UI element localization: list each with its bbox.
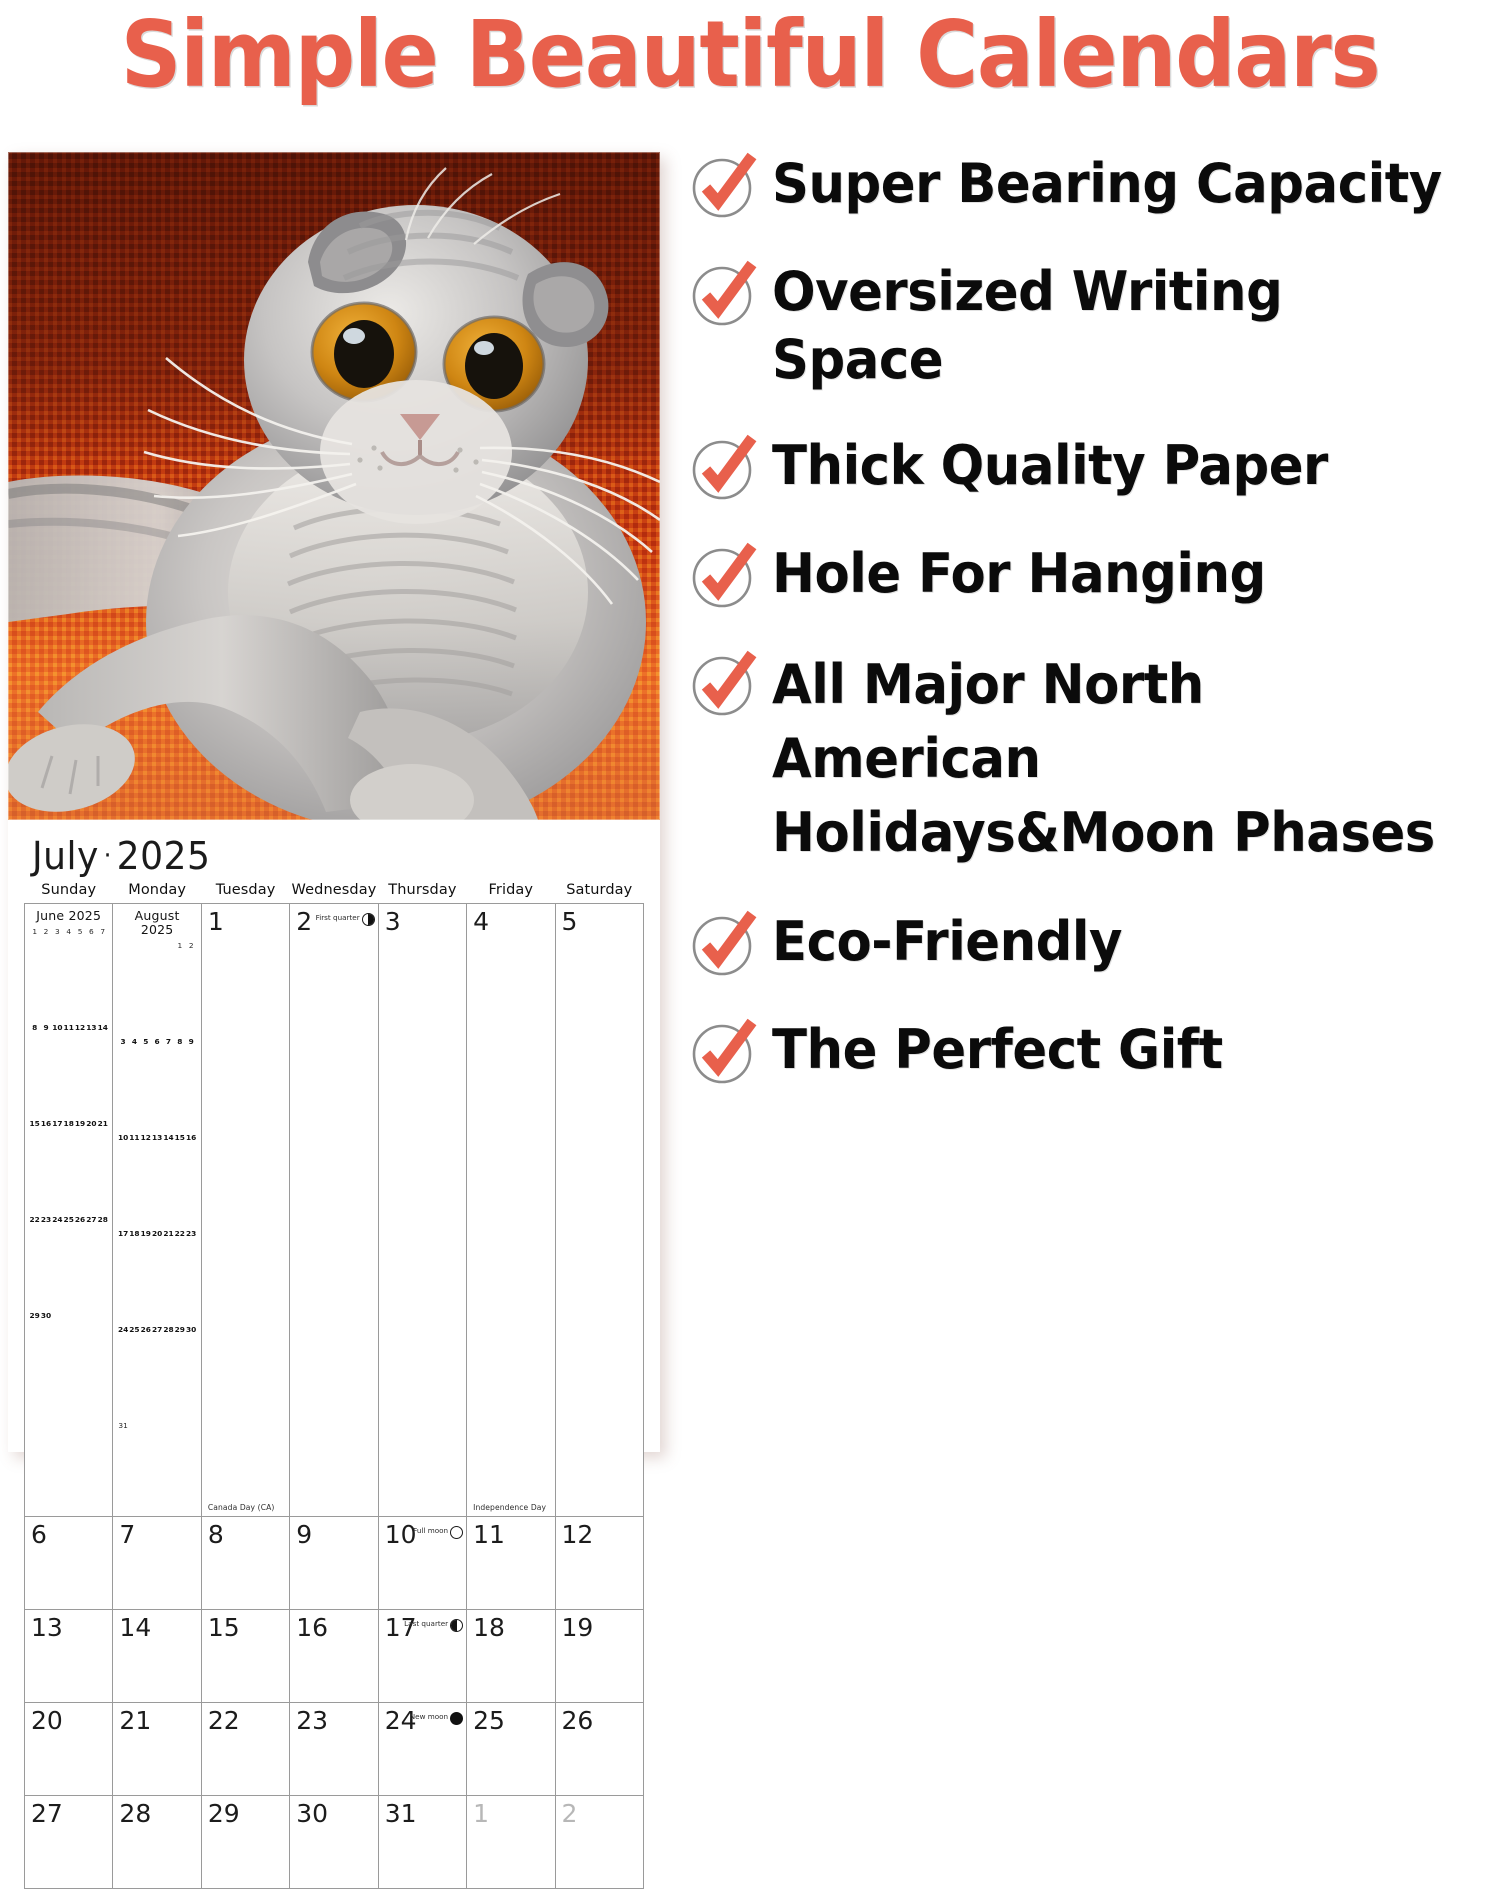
mini-calendar-empty	[97, 1310, 108, 1406]
mini-calendar-week: 31	[117, 1420, 196, 1516]
feature-item: Thick Quality Paper	[690, 432, 1490, 502]
mini-calendar-grid: 1234567891011121314151617181920212223242…	[29, 926, 108, 1406]
product-calendar-mockup: July·2025 Sunday Monday Tuesday Wednesda…	[8, 152, 660, 1452]
mini-calendar-day: 30	[40, 1310, 51, 1406]
mini-calendar-day: 6	[86, 926, 97, 1022]
holiday-label: Canada Day (CA)	[208, 1503, 286, 1512]
mini-calendar-day: 15	[174, 1132, 185, 1228]
calendar-day-cell[interactable]: 10Full moon	[378, 1517, 466, 1610]
mini-calendar-day: 11	[63, 1022, 74, 1118]
mini-calendar-day: 22	[174, 1228, 185, 1324]
calendar-day-cell[interactable]: 4Independence Day	[467, 904, 555, 1517]
calendar-day-cell[interactable]: 25	[467, 1703, 555, 1796]
calendar-week-row: June 20251234567891011121314151617181920…	[25, 904, 644, 1517]
weekday-friday: Friday	[467, 882, 555, 904]
calendar-day-cell[interactable]: 11	[467, 1517, 555, 1610]
mini-calendar-day: 23	[40, 1214, 51, 1310]
moon-phase-label: New moon	[410, 1713, 448, 1721]
mini-calendar-day: 18	[63, 1118, 74, 1214]
day-number: 31	[379, 1796, 466, 1827]
mini-calendar-day: 9	[40, 1022, 51, 1118]
weekday-sunday: Sunday	[25, 882, 113, 904]
calendar-day-cell[interactable]: June 20251234567891011121314151617181920…	[25, 904, 113, 1517]
day-number: 30	[290, 1796, 377, 1827]
day-number: 9	[290, 1517, 377, 1548]
day-number: 12	[556, 1517, 643, 1548]
day-number: 19	[556, 1610, 643, 1641]
day-number: 21	[113, 1703, 200, 1734]
mini-calendar-day: 22	[29, 1214, 40, 1310]
feature-label: Eco-Friendly	[772, 908, 1122, 976]
day-number: 22	[202, 1703, 289, 1734]
mini-calendar-empty	[86, 1310, 97, 1406]
mini-calendar-week: 1234567	[29, 926, 108, 1022]
calendar-day-cell[interactable]: 8	[201, 1517, 289, 1610]
calendar-month-title: July·2025	[32, 834, 613, 878]
mini-calendar-empty	[185, 1420, 196, 1516]
mini-calendar-day: 13	[86, 1022, 97, 1118]
mini-calendar-empty	[151, 940, 162, 1036]
check-circle-icon	[690, 434, 758, 502]
mini-calendar-day: 14	[97, 1022, 108, 1118]
calendar-day-cell[interactable]: 26	[555, 1703, 643, 1796]
calendar-day-cell[interactable]: 20	[25, 1703, 113, 1796]
day-number: 14	[113, 1610, 200, 1641]
day-number: 15	[202, 1610, 289, 1641]
feature-item: All Major North AmericanHolidays&Moon Ph…	[690, 648, 1490, 870]
mini-calendar-day: 27	[151, 1324, 162, 1420]
feature-list: Super Bearing CapacityOversized Writing …	[690, 150, 1490, 1086]
day-number: 11	[467, 1517, 554, 1548]
day-number: 27	[25, 1796, 112, 1827]
mini-calendar-week: 2930	[29, 1310, 108, 1406]
day-number: 26	[556, 1703, 643, 1734]
mini-calendar-week: 17181920212223	[117, 1228, 196, 1324]
mini-calendar-day: 12	[74, 1022, 85, 1118]
calendar-separator: ·	[99, 841, 117, 871]
day-number: 25	[467, 1703, 554, 1734]
calendar-day-cell[interactable]: 18	[467, 1610, 555, 1703]
mini-calendar-day: 29	[174, 1324, 185, 1420]
feature-label-line-1: All Major North American	[772, 648, 1454, 796]
mini-calendar-week: 24252627282930	[117, 1324, 196, 1420]
mini-calendar-day: 12	[140, 1132, 151, 1228]
moon-phase-label: First quarter	[316, 914, 360, 922]
day-number: 1	[202, 904, 289, 935]
calendar-week-row: 2021222324New moon2526	[25, 1703, 644, 1796]
mini-calendar-day: 14	[163, 1132, 174, 1228]
mini-calendar-empty	[63, 1310, 74, 1406]
mini-calendar-day: 18	[129, 1228, 140, 1324]
mini-calendar-day: 19	[74, 1118, 85, 1214]
feature-item: Oversized Writing Space	[690, 258, 1490, 394]
mini-calendar-day: 15	[29, 1118, 40, 1214]
check-circle-icon	[690, 542, 758, 610]
mini-calendar-day: 7	[163, 1036, 174, 1132]
page-title: Simple Beautiful Calendars	[60, 4, 1440, 105]
weekday-tuesday: Tuesday	[201, 882, 289, 904]
day-number: 8	[202, 1517, 289, 1548]
feature-item: Super Bearing Capacity	[690, 150, 1490, 220]
day-number: 13	[25, 1610, 112, 1641]
moon-full-icon	[450, 1526, 463, 1539]
day-number: 4	[467, 904, 554, 935]
calendar-day-cell[interactable]: 12	[555, 1517, 643, 1610]
mini-calendar-day: 16	[40, 1118, 51, 1214]
mini-calendar-empty	[163, 1420, 174, 1516]
mini-calendar-day: 28	[163, 1324, 174, 1420]
day-number: 20	[25, 1703, 112, 1734]
calendar-week-row: 678910Full moon1112	[25, 1517, 644, 1610]
mini-calendar-day: 25	[129, 1324, 140, 1420]
mini-calendar-day: 13	[151, 1132, 162, 1228]
mini-calendar-day: 26	[140, 1324, 151, 1420]
mini-calendar-day: 10	[52, 1022, 63, 1118]
check-circle-icon	[690, 152, 758, 220]
mini-calendar-day: 27	[86, 1214, 97, 1310]
mini-calendar-day: 23	[185, 1228, 196, 1324]
mini-calendar-day: 5	[140, 1036, 151, 1132]
mini-calendar-empty	[129, 1420, 140, 1516]
calendar-day-cell[interactable]: 3	[378, 904, 466, 1517]
holiday-label: Independence Day	[473, 1503, 551, 1512]
calendar-day-cell[interactable]: 31	[378, 1796, 466, 1889]
mini-calendar-day: 20	[86, 1118, 97, 1214]
calendar-day-cell[interactable]: 17Last quarter	[378, 1610, 466, 1703]
feature-item: Hole For Hanging	[690, 540, 1490, 610]
mini-calendar-day: 19	[140, 1228, 151, 1324]
calendar-day-cell[interactable]: 29	[201, 1796, 289, 1889]
calendar-day-cell[interactable]: 27	[25, 1796, 113, 1889]
feature-label: Oversized Writing Space	[772, 258, 1454, 394]
mini-calendar-empty	[74, 1310, 85, 1406]
weekday-thursday: Thursday	[378, 882, 466, 904]
mini-calendar-week: 22232425262728	[29, 1214, 108, 1310]
calendar-week-row: 1314151617Last quarter1819	[25, 1610, 644, 1703]
feature-label: All Major North AmericanHolidays&Moon Ph…	[772, 648, 1454, 870]
feature-label: Super Bearing Capacity	[772, 150, 1442, 218]
check-circle-icon	[690, 1018, 758, 1086]
mini-calendar-day: 8	[174, 1036, 185, 1132]
day-number: 23	[290, 1703, 377, 1734]
weekday-header-row: Sunday Monday Tuesday Wednesday Thursday…	[25, 882, 644, 904]
calendar-day-cell[interactable]: August 202512345678910111213141516171819…	[113, 904, 201, 1517]
mini-calendar-week: 15161718192021	[29, 1118, 108, 1214]
mini-calendar-grid: 1234567891011121314151617181920212223242…	[117, 940, 196, 1516]
calendar-year: 2025	[117, 834, 211, 878]
day-number: 16	[290, 1610, 377, 1641]
mini-calendar-day: 11	[129, 1132, 140, 1228]
calendar-day-cell[interactable]: 23	[290, 1703, 378, 1796]
mini-calendar-day: 8	[29, 1022, 40, 1118]
calendar-day-cell[interactable]: 15	[201, 1610, 289, 1703]
mini-calendar-day: 24	[117, 1324, 128, 1420]
day-number: 7	[113, 1517, 200, 1548]
feature-label: The Perfect Gift	[772, 1016, 1223, 1084]
moon-phase-last: Last quarter	[404, 1616, 463, 1632]
scottish-fold-cat-photo	[8, 152, 660, 820]
mini-calendar-title: June 2025	[29, 909, 108, 923]
calendar-day-cell[interactable]: 7	[113, 1517, 201, 1610]
calendar-month: July	[32, 834, 99, 878]
calendar-grid: Sunday Monday Tuesday Wednesday Thursday…	[24, 882, 644, 1889]
calendar-day-cell[interactable]: 2First quarter	[290, 904, 378, 1517]
calendar-panel: July·2025 Sunday Monday Tuesday Wednesda…	[8, 820, 660, 1452]
mini-calendar-day: 29	[29, 1310, 40, 1406]
check-circle-icon	[690, 650, 758, 718]
day-number: 28	[113, 1796, 200, 1827]
day-number: 5	[556, 904, 643, 935]
mini-calendar-day: 5	[74, 926, 85, 1022]
mini-calendar-week: 3456789	[117, 1036, 196, 1132]
mini-calendar-next-month: August 202512345678910111213141516171819…	[113, 904, 200, 1516]
mini-calendar-day: 9	[185, 1036, 196, 1132]
mini-calendar-day: 2	[185, 940, 196, 1036]
calendar-day-cell[interactable]: 1	[467, 1796, 555, 1889]
calendar-day-cell[interactable]: 19	[555, 1610, 643, 1703]
mini-calendar-day: 21	[163, 1228, 174, 1324]
mini-calendar-day: 3	[52, 926, 63, 1022]
calendar-day-cell[interactable]: 14	[113, 1610, 201, 1703]
moon-first-icon	[362, 913, 375, 926]
mini-calendar-empty	[174, 1420, 185, 1516]
calendar-day-cell[interactable]: 9	[290, 1517, 378, 1610]
mini-calendar-day: 10	[117, 1132, 128, 1228]
mini-calendar-week: 10111213141516	[117, 1132, 196, 1228]
mini-calendar-day: 25	[63, 1214, 74, 1310]
moon-phase-full: Full moon	[413, 1523, 463, 1539]
mini-calendar-empty	[129, 940, 140, 1036]
mini-calendar-empty	[163, 940, 174, 1036]
calendar-day-cell[interactable]: 16	[290, 1610, 378, 1703]
day-number: 6	[25, 1517, 112, 1548]
moon-new-icon	[450, 1712, 463, 1725]
mini-calendar-day: 21	[97, 1118, 108, 1214]
moon-last-icon	[450, 1619, 463, 1632]
calendar-day-cell[interactable]: 22	[201, 1703, 289, 1796]
mini-calendar-day: 16	[185, 1132, 196, 1228]
mini-calendar-day: 17	[52, 1118, 63, 1214]
mini-calendar-title: August 2025	[117, 909, 196, 937]
mini-calendar-empty	[140, 940, 151, 1036]
mini-calendar-day: 6	[151, 1036, 162, 1132]
mini-calendar-day: 3	[117, 1036, 128, 1132]
mini-calendar-day: 17	[117, 1228, 128, 1324]
moon-phase-new: New moon	[410, 1709, 463, 1725]
mini-calendar-empty	[151, 1420, 162, 1516]
day-number: 2	[556, 1796, 643, 1827]
mini-calendar-day: 20	[151, 1228, 162, 1324]
calendar-day-cell[interactable]: 21	[113, 1703, 201, 1796]
mini-calendar-day: 2	[40, 926, 51, 1022]
mini-calendar-day: 1	[29, 926, 40, 1022]
moon-phase-label: Full moon	[413, 1527, 448, 1535]
weekday-monday: Monday	[113, 882, 201, 904]
moon-phase-label: Last quarter	[404, 1620, 448, 1628]
calendar-day-cell[interactable]: 13	[25, 1610, 113, 1703]
mini-calendar-day: 4	[129, 1036, 140, 1132]
calendar-day-cell[interactable]: 28	[113, 1796, 201, 1889]
weekday-wednesday: Wednesday	[290, 882, 378, 904]
mini-calendar-empty	[140, 1420, 151, 1516]
mini-calendar-day: 4	[63, 926, 74, 1022]
weekday-saturday: Saturday	[555, 882, 643, 904]
mini-calendar-day: 7	[97, 926, 108, 1022]
check-circle-icon	[690, 910, 758, 978]
day-number: 18	[467, 1610, 554, 1641]
feature-item: Eco-Friendly	[690, 908, 1490, 978]
mini-calendar-day: 1	[174, 940, 185, 1036]
feature-label-line-2: Holidays&Moon Phases	[772, 796, 1454, 870]
mini-calendar-day: 26	[74, 1214, 85, 1310]
mini-calendar-week: 891011121314	[29, 1022, 108, 1118]
day-number: 3	[379, 904, 466, 935]
mini-calendar-previous-month: June 20251234567891011121314151617181920…	[25, 904, 112, 1406]
day-number: 1	[467, 1796, 554, 1827]
calendar-body: June 20251234567891011121314151617181920…	[25, 904, 644, 1889]
mini-calendar-day: 24	[52, 1214, 63, 1310]
mini-calendar-empty	[117, 940, 128, 1036]
mini-calendar-day: 28	[97, 1214, 108, 1310]
calendar-day-cell[interactable]: 30	[290, 1796, 378, 1889]
calendar-day-cell[interactable]: 5	[555, 904, 643, 1517]
calendar-day-cell[interactable]: 6	[25, 1517, 113, 1610]
mini-calendar-day: 31	[117, 1420, 128, 1516]
calendar-day-cell[interactable]: 24New moon	[378, 1703, 466, 1796]
calendar-day-cell[interactable]: 1Canada Day (CA)	[201, 904, 289, 1517]
check-circle-icon	[690, 260, 758, 328]
day-number: 29	[202, 1796, 289, 1827]
mini-calendar-empty	[52, 1310, 63, 1406]
feature-item: The Perfect Gift	[690, 1016, 1490, 1086]
calendar-photo-panel	[8, 152, 660, 820]
mini-calendar-day: 30	[185, 1324, 196, 1420]
calendar-day-cell[interactable]: 2	[555, 1796, 643, 1889]
moon-phase-first: First quarter	[316, 910, 375, 926]
mini-calendar-week: 12	[117, 940, 196, 1036]
feature-label: Thick Quality Paper	[772, 432, 1328, 500]
calendar-week-row: 272829303112	[25, 1796, 644, 1889]
feature-label: Hole For Hanging	[772, 540, 1266, 608]
